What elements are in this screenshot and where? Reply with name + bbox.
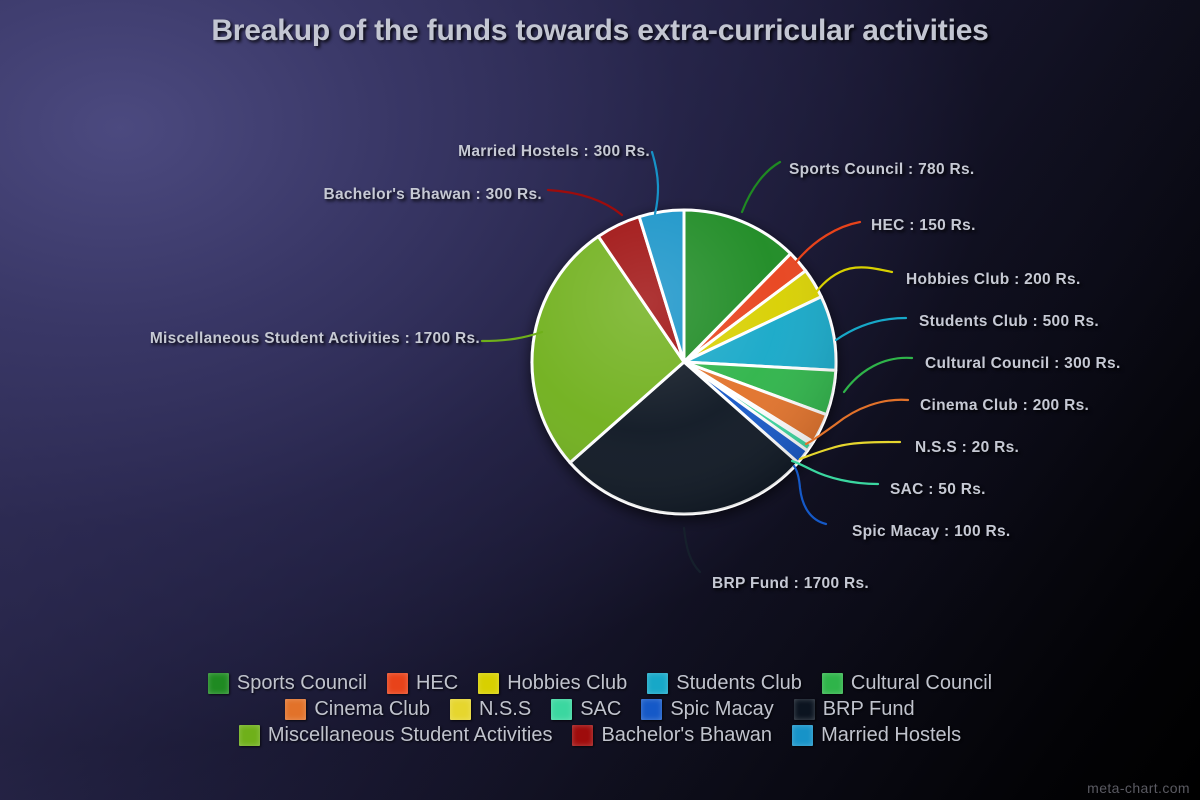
legend-item-label: Cultural Council — [851, 672, 992, 695]
legend-item[interactable]: Miscellaneous Student Activities — [239, 724, 553, 747]
callout-students-club: Students Club : 500 Rs. — [919, 313, 1099, 331]
callout-sports-council: Sports Council : 780 Rs. — [789, 161, 975, 179]
legend-swatch-icon — [647, 673, 668, 694]
leader-line-cinema-club — [806, 400, 908, 444]
leader-line-hec — [796, 222, 860, 262]
legend-item[interactable]: N.S.S — [450, 698, 531, 721]
legend-swatch-icon — [572, 725, 593, 746]
leader-line-brp-fund — [684, 528, 700, 572]
legend-swatch-icon — [822, 673, 843, 694]
callout-hobbies-club: Hobbies Club : 200 Rs. — [906, 271, 1081, 289]
callout-cinema-club: Cinema Club : 200 Rs. — [920, 397, 1089, 415]
legend-item-label: Cinema Club — [314, 698, 430, 721]
legend-swatch-icon — [478, 673, 499, 694]
legend-item[interactable]: Spic Macay — [641, 698, 773, 721]
legend-row: Sports CouncilHECHobbies ClubStudents Cl… — [208, 672, 992, 695]
legend-item[interactable]: Bachelor's Bhawan — [572, 724, 772, 747]
legend-row: Cinema ClubN.S.SSACSpic MacayBRP Fund — [285, 698, 914, 721]
callout-spic-macay: Spic Macay : 100 Rs. — [852, 523, 1011, 541]
legend-swatch-icon — [641, 699, 662, 720]
legend-swatch-icon — [285, 699, 306, 720]
legend-item-label: SAC — [580, 698, 621, 721]
leader-line-sports-council — [742, 162, 780, 212]
pie-chart-page: Breakup of the funds towards extra-curri… — [0, 0, 1200, 800]
callout-cultural-council: Cultural Council : 300 Rs. — [925, 355, 1121, 373]
leader-line-sac — [792, 461, 878, 484]
leader-line-nss — [800, 442, 900, 459]
legend-item-label: Students Club — [676, 672, 802, 695]
leader-line-students-club — [836, 318, 906, 340]
legend-item-label: Spic Macay — [670, 698, 773, 721]
callout-married-hostels: Married Hostels : 300 Rs. — [380, 143, 650, 161]
legend-item[interactable]: Married Hostels — [792, 724, 961, 747]
callout-brp-fund: BRP Fund : 1700 Rs. — [712, 575, 869, 593]
legend-swatch-icon — [450, 699, 471, 720]
callout-sac: SAC : 50 Rs. — [890, 481, 986, 499]
legend-swatch-icon — [208, 673, 229, 694]
legend-item[interactable]: Hobbies Club — [478, 672, 627, 695]
legend-item-label: Miscellaneous Student Activities — [268, 724, 553, 747]
legend-swatch-icon — [792, 725, 813, 746]
legend-item[interactable]: HEC — [387, 672, 458, 695]
leader-line-misc — [482, 332, 542, 341]
callout-nss: N.S.S : 20 Rs. — [915, 439, 1019, 457]
legend-item-label: Bachelor's Bhawan — [601, 724, 772, 747]
legend-swatch-icon — [239, 725, 260, 746]
legend-swatch-icon — [551, 699, 572, 720]
leader-line-cultural-council — [844, 358, 912, 392]
watermark: meta-chart.com — [1087, 780, 1190, 796]
legend-item-label: HEC — [416, 672, 458, 695]
legend-item[interactable]: Students Club — [647, 672, 802, 695]
legend: Sports CouncilHECHobbies ClubStudents Cl… — [0, 672, 1200, 747]
legend-swatch-icon — [794, 699, 815, 720]
legend-item-label: Married Hostels — [821, 724, 961, 747]
leader-line-bachelors-bhawan — [548, 190, 622, 215]
legend-item[interactable]: Cultural Council — [822, 672, 992, 695]
legend-item[interactable]: BRP Fund — [794, 698, 915, 721]
legend-item-label: Sports Council — [237, 672, 367, 695]
legend-item[interactable]: Sports Council — [208, 672, 367, 695]
legend-swatch-icon — [387, 673, 408, 694]
callout-hec: HEC : 150 Rs. — [871, 217, 976, 235]
callout-misc-student-activities: Miscellaneous Student Activities : 1700 … — [28, 330, 480, 348]
legend-row: Miscellaneous Student ActivitiesBachelor… — [239, 724, 961, 747]
leader-line-married-hostels — [652, 152, 658, 214]
legend-item[interactable]: Cinema Club — [285, 698, 430, 721]
legend-item-label: N.S.S — [479, 698, 531, 721]
callout-bachelors-bhawan: Bachelor's Bhawan : 300 Rs. — [250, 186, 542, 204]
legend-item[interactable]: SAC — [551, 698, 621, 721]
leader-line-hobbies — [812, 267, 892, 298]
legend-item-label: Hobbies Club — [507, 672, 627, 695]
legend-item-label: BRP Fund — [823, 698, 915, 721]
